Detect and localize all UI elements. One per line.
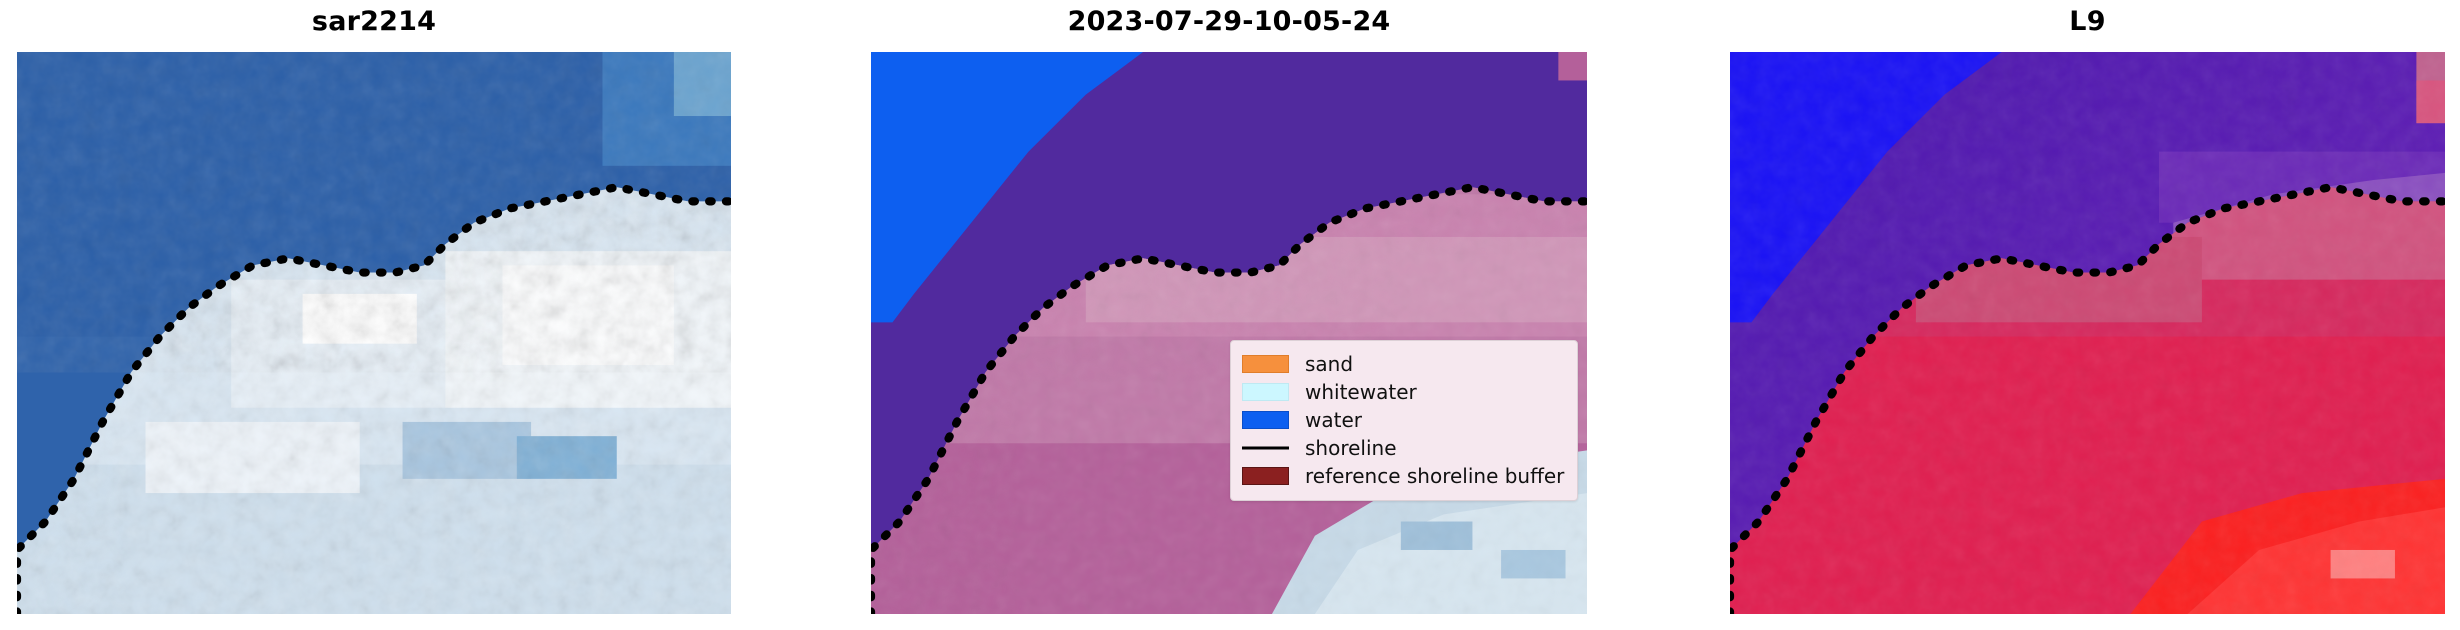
panel-title-classification: 2023-07-29-10-05-24 — [871, 4, 1587, 40]
legend-box[interactable]: sand whitewater water shoreline referenc… — [1230, 340, 1578, 501]
legend-label-whitewater: whitewater — [1305, 381, 1417, 403]
legend-item-whitewater[interactable]: whitewater — [1242, 378, 1567, 406]
legend-label-water: water — [1305, 409, 1362, 431]
panel-title-l9: L9 — [1730, 4, 2445, 40]
shoreline-line-icon — [1242, 439, 1289, 457]
l9-raster — [1730, 52, 2445, 614]
water-swatch-icon — [1242, 411, 1289, 429]
legend-label-sand: sand — [1305, 353, 1353, 375]
figure-canvas: sar2214 — [0, 0, 2460, 630]
panel-l9-image[interactable] — [1730, 52, 2445, 614]
sand-swatch-icon — [1242, 355, 1289, 373]
whitewater-swatch-icon — [1242, 383, 1289, 401]
classification-raster — [871, 52, 1587, 614]
legend-item-reference-buffer[interactable]: reference shoreline buffer — [1242, 462, 1567, 490]
panel-title-sar: sar2214 — [17, 4, 731, 40]
panel-sar-image[interactable] — [17, 52, 731, 614]
legend-item-sand[interactable]: sand — [1242, 350, 1567, 378]
legend-item-water[interactable]: water — [1242, 406, 1567, 434]
sar-raster — [17, 52, 731, 614]
reference-buffer-swatch-icon — [1242, 467, 1289, 485]
legend-label-reference-buffer: reference shoreline buffer — [1305, 465, 1564, 487]
legend-item-shoreline[interactable]: shoreline — [1242, 434, 1567, 462]
panel-classification-image[interactable]: sand whitewater water shoreline referenc… — [871, 52, 1587, 614]
legend-label-shoreline: shoreline — [1305, 437, 1397, 459]
